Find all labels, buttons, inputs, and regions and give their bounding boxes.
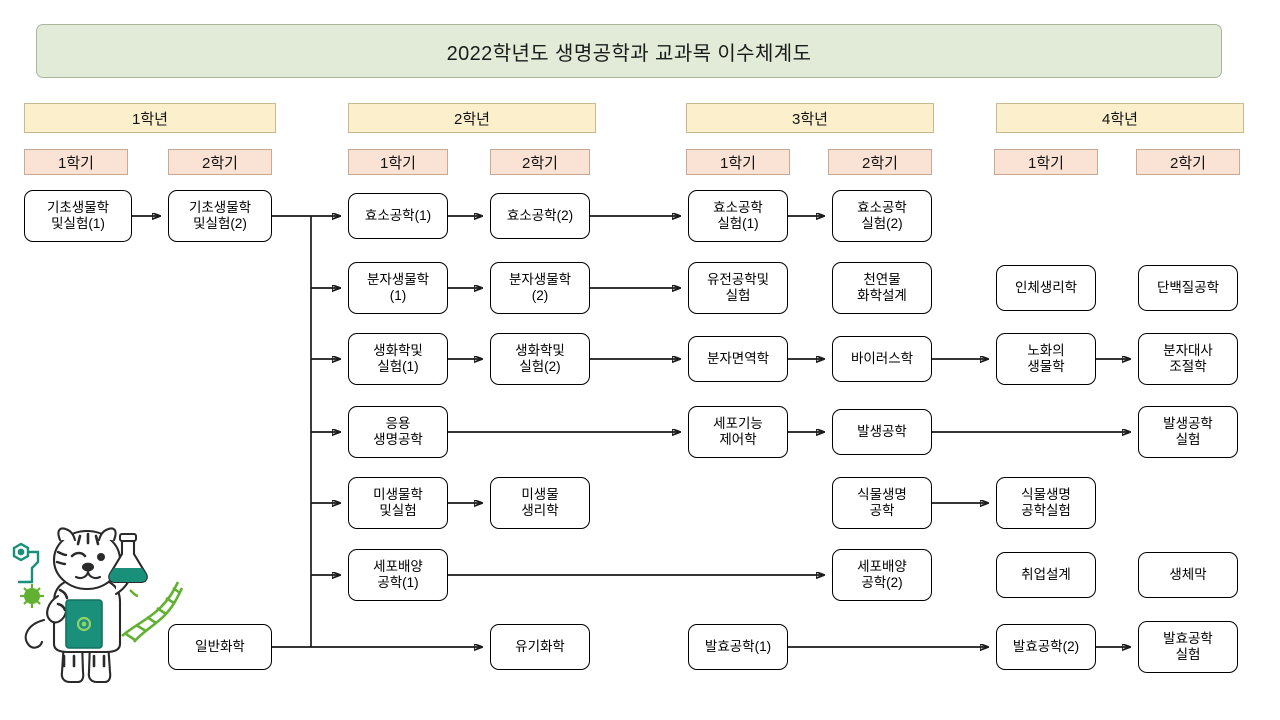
course-box-c5[interactable]: 효소공학 실험(1) xyxy=(688,190,788,242)
course-box-c3[interactable]: 효소공학(1) xyxy=(348,193,448,239)
semester-header-8: 2학기 xyxy=(1136,149,1240,175)
course-box-c17[interactable]: 노화의 생물학 xyxy=(996,333,1096,385)
course-box-c1[interactable]: 기초생물학 및실험(1) xyxy=(24,190,132,242)
course-box-c22[interactable]: 발생공학 실험 xyxy=(1138,406,1238,458)
lab-tiger-mascot xyxy=(2,524,192,699)
semester-header-6: 2학기 xyxy=(828,149,932,175)
course-box-c12[interactable]: 단백질공학 xyxy=(1138,265,1238,311)
course-box-c18[interactable]: 분자대사 조절학 xyxy=(1138,333,1238,385)
course-box-c14[interactable]: 생화학및 실험(2) xyxy=(490,333,590,385)
molecule-icon xyxy=(14,544,38,582)
course-box-c9[interactable]: 유전공학및 실험 xyxy=(688,262,788,314)
semester-header-7: 1학기 xyxy=(994,149,1098,175)
course-box-c23[interactable]: 미생물학 및실험 xyxy=(348,477,448,529)
course-box-c11[interactable]: 인체생리학 xyxy=(996,265,1096,311)
course-box-c24[interactable]: 미생물 생리학 xyxy=(490,477,590,529)
course-box-c19[interactable]: 응용 생명공학 xyxy=(348,406,448,458)
semester-header-2: 2학기 xyxy=(168,149,272,175)
page-title-banner: 2022학년도 생명공학과 교과목 이수체계도 xyxy=(36,24,1222,78)
course-box-c10[interactable]: 천연물 화학설계 xyxy=(832,262,932,314)
course-box-c20[interactable]: 세포기능 제어학 xyxy=(688,406,788,458)
course-box-c26[interactable]: 식물생명 공학실험 xyxy=(996,477,1096,529)
year-header-1: 1학년 xyxy=(24,103,276,133)
semester-header-3: 1학기 xyxy=(348,149,448,175)
curriculum-diagram-canvas: 2022학년도 생명공학과 교과목 이수체계도 1학년2학년3학년4학년 1학기… xyxy=(0,0,1280,720)
year-header-4: 4학년 xyxy=(996,103,1244,133)
semester-header-4: 2학기 xyxy=(490,149,590,175)
course-box-c7[interactable]: 분자생물학 (1) xyxy=(348,262,448,314)
course-box-c33[interactable]: 발효공학(1) xyxy=(688,624,788,670)
course-box-c35[interactable]: 발효공학 실험 xyxy=(1138,621,1238,673)
course-box-c6[interactable]: 효소공학 실험(2) xyxy=(832,190,932,242)
course-box-c28[interactable]: 세포배양 공학(2) xyxy=(832,549,932,601)
tick-decoration xyxy=(130,590,138,596)
course-box-c8[interactable]: 분자생물학 (2) xyxy=(490,262,590,314)
course-box-c29[interactable]: 취업설계 xyxy=(996,552,1096,598)
year-header-3: 3학년 xyxy=(686,103,934,133)
course-box-c4[interactable]: 효소공학(2) xyxy=(490,193,590,239)
semester-header-5: 1학기 xyxy=(686,149,790,175)
course-box-c32[interactable]: 유기화학 xyxy=(490,624,590,670)
course-box-c15[interactable]: 분자면역학 xyxy=(688,336,788,382)
course-box-c21[interactable]: 발생공학 xyxy=(832,409,932,455)
semester-header-1: 1학기 xyxy=(24,149,128,175)
clipboard-icon xyxy=(66,600,102,648)
virus-icon xyxy=(20,584,44,608)
course-box-c13[interactable]: 생화학및 실험(1) xyxy=(348,333,448,385)
course-box-c2[interactable]: 기초생물학 및실험(2) xyxy=(168,190,272,242)
course-box-c27[interactable]: 세포배양 공학(1) xyxy=(348,549,448,601)
course-box-c25[interactable]: 식물생명 공학 xyxy=(832,477,932,529)
year-header-2: 2학년 xyxy=(348,103,596,133)
course-box-c16[interactable]: 바이러스학 xyxy=(832,336,932,382)
page-title: 2022학년도 생명공학과 교과목 이수체계도 xyxy=(447,37,812,66)
course-box-c30[interactable]: 생체막 xyxy=(1138,552,1238,598)
course-box-c34[interactable]: 발효공학(2) xyxy=(996,624,1096,670)
